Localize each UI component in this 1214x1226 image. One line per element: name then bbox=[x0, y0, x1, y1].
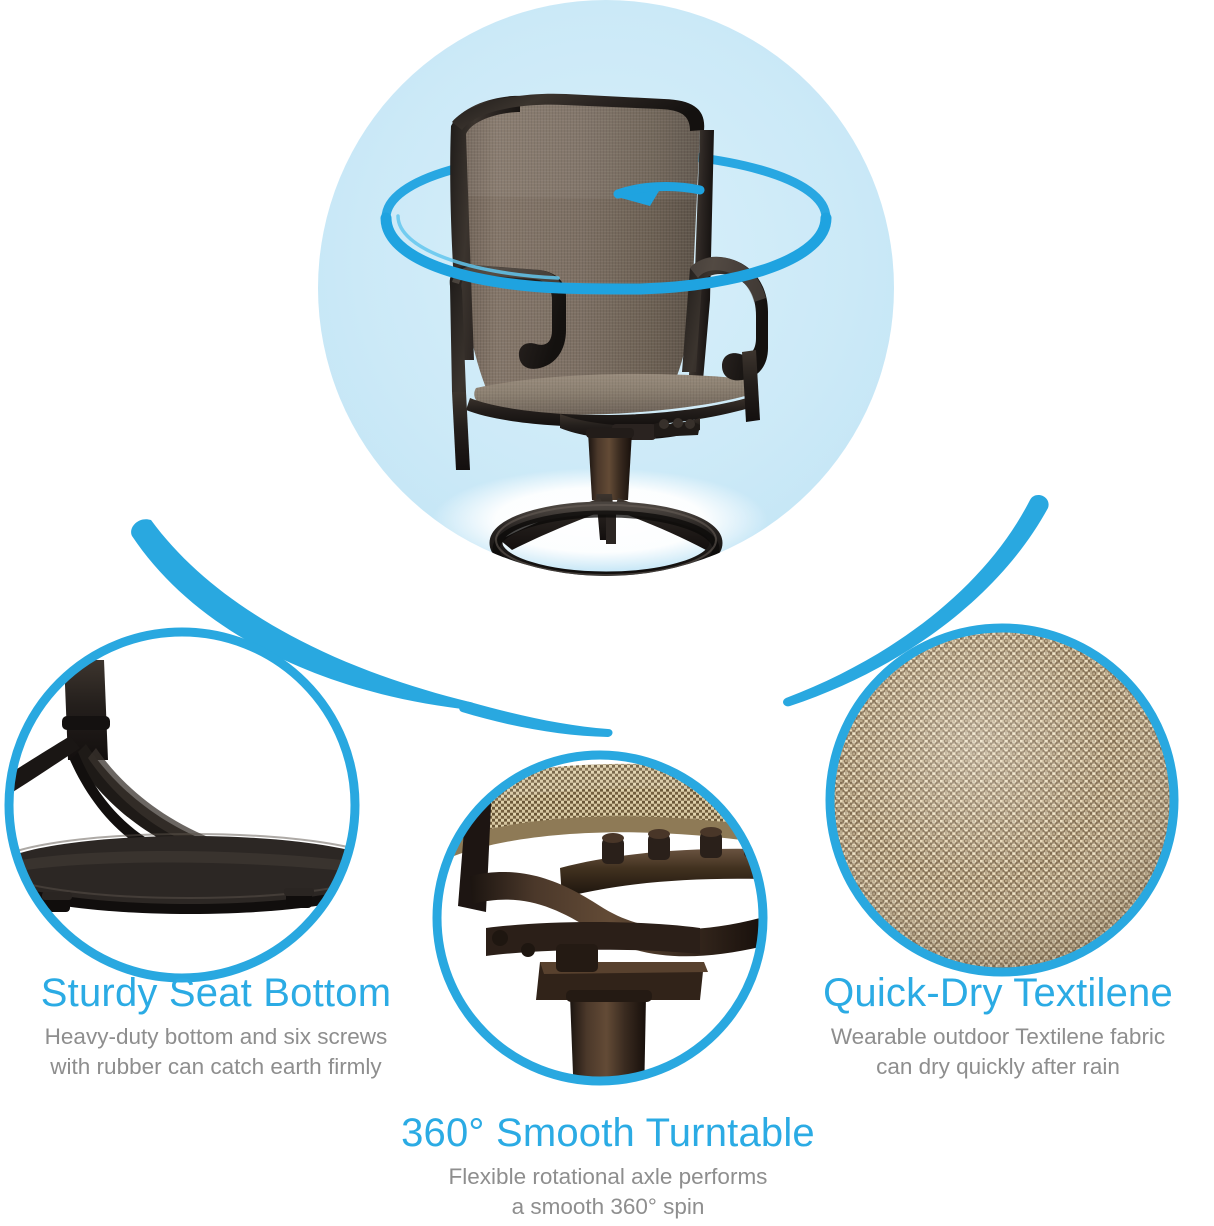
feature-title-smooth-turntable: 360° Smooth Turntable bbox=[330, 1112, 886, 1155]
infographic-canvas: Sturdy Seat Bottom Heavy-duty bottom and… bbox=[0, 0, 1214, 1226]
feature-title-quick-dry-textilene: Quick-Dry Textilene bbox=[782, 972, 1214, 1015]
connector-center bbox=[459, 702, 612, 737]
feature-text-sturdy-seat-bottom: Sturdy Seat Bottom Heavy-duty bottom and… bbox=[0, 972, 432, 1082]
feature-title-sturdy-seat-bottom: Sturdy Seat Bottom bbox=[0, 972, 432, 1015]
chair-back-sling bbox=[452, 96, 700, 388]
feature-description-sturdy-seat-bottom: Heavy-duty bottom and six screws with ru… bbox=[0, 1022, 432, 1082]
feature-description-line: Flexible rotational axle performs bbox=[330, 1162, 886, 1192]
feature-description-line: Wearable outdoor Textilene fabric bbox=[782, 1022, 1214, 1052]
chair-pedestal-column bbox=[586, 428, 634, 500]
callout-circle-smooth-turntable bbox=[430, 750, 793, 1100]
feature-description-quick-dry-textilene: Wearable outdoor Textilene fabric can dr… bbox=[782, 1022, 1214, 1082]
feature-text-smooth-turntable: 360° Smooth Turntable Flexible rotationa… bbox=[330, 1112, 886, 1222]
feature-description-line: Heavy-duty bottom and six screws bbox=[0, 1022, 432, 1052]
feature-description-smooth-turntable: Flexible rotational axle performs a smoo… bbox=[330, 1162, 886, 1222]
callout-circle-quick-dry-textilene bbox=[828, 626, 1178, 976]
feature-description-line: with rubber can catch earth firmly bbox=[0, 1052, 432, 1082]
feature-description-line: can dry quickly after rain bbox=[782, 1052, 1214, 1082]
feature-description-line: a smooth 360° spin bbox=[330, 1192, 886, 1222]
feature-text-quick-dry-textilene: Quick-Dry Textilene Wearable outdoor Tex… bbox=[782, 972, 1214, 1082]
